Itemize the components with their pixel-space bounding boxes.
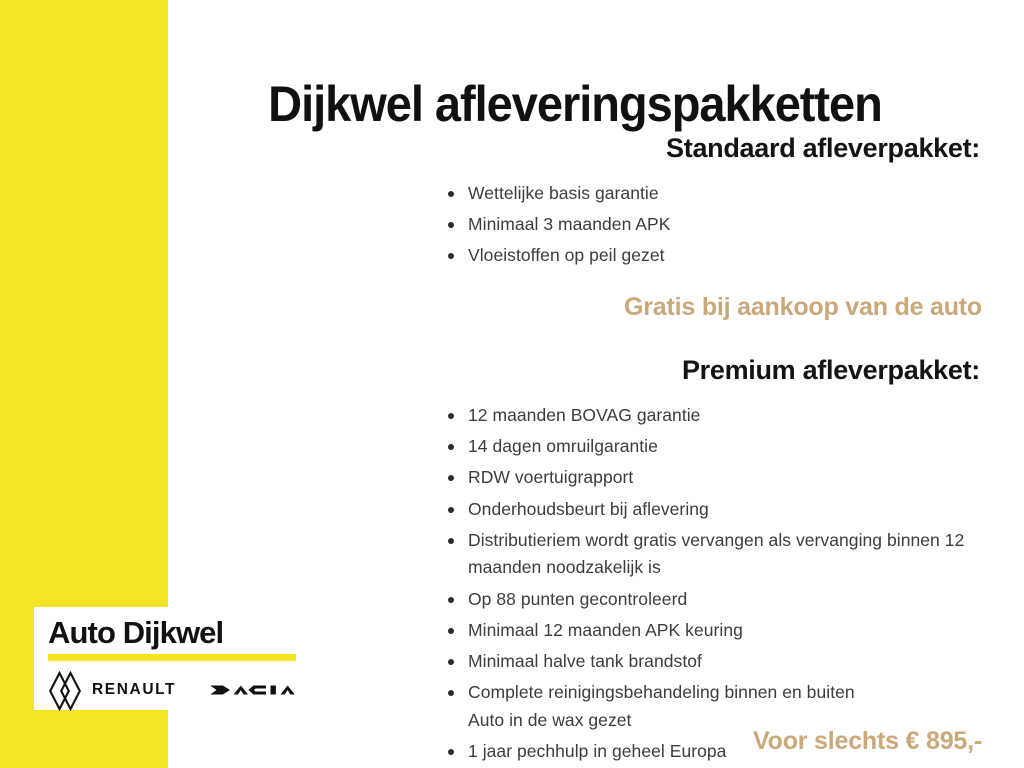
list-item: Onderhoudsbeurt bij aflevering bbox=[448, 496, 968, 523]
premium-package-accent-price: Voor slechts € 895,- bbox=[168, 726, 982, 756]
standard-package-list: Wettelijke basis garantie Minimaal 3 maa… bbox=[168, 180, 982, 270]
list-item: Vloeistoffen op peil gezet bbox=[448, 242, 968, 269]
renault-wordmark: RENAULT bbox=[92, 681, 176, 699]
list-item: Distributieriem wordt gratis vervangen a… bbox=[448, 527, 968, 582]
standard-package-heading: Standaard afleverpakket: bbox=[168, 132, 982, 166]
page-title: Dijkwel afleveringspakketten bbox=[192, 78, 957, 130]
list-item: 14 dagen omruilgarantie bbox=[448, 433, 968, 460]
list-item-line: Complete reinigingsbehandeling binnen en… bbox=[468, 679, 968, 706]
renault-diamond-icon bbox=[48, 671, 82, 709]
premium-package-heading: Premium afleverpakket: bbox=[168, 354, 982, 388]
standard-package-section: Standaard afleverpakket: Wettelijke basi… bbox=[168, 132, 982, 274]
brand-row: RENAULT bbox=[48, 671, 294, 709]
dealer-logo-block: Auto Dijkwel RENAULT bbox=[34, 607, 306, 710]
premium-package-list: 12 maanden BOVAG garantie 14 dagen omrui… bbox=[168, 402, 982, 766]
poster-canvas: Dijkwel afleveringspakketten Standaard a… bbox=[0, 0, 1024, 768]
list-item: 12 maanden BOVAG garantie bbox=[448, 402, 968, 429]
list-item: Minimaal 12 maanden APK keuring bbox=[448, 617, 968, 644]
list-item: RDW voertuigrapport bbox=[448, 464, 968, 491]
dacia-wordmark bbox=[210, 681, 322, 699]
list-item: Wettelijke basis garantie bbox=[448, 180, 968, 207]
list-item: Minimaal 3 maanden APK bbox=[448, 211, 968, 238]
auto-dijkwel-wordmark: Auto Dijkwel bbox=[48, 617, 294, 648]
list-item: Op 88 punten gecontroleerd bbox=[448, 586, 968, 613]
list-item: Minimaal halve tank brandstof bbox=[448, 648, 968, 675]
standard-package-accent: Gratis bij aankoop van de auto bbox=[168, 292, 982, 322]
logo-yellow-rule bbox=[48, 654, 296, 661]
